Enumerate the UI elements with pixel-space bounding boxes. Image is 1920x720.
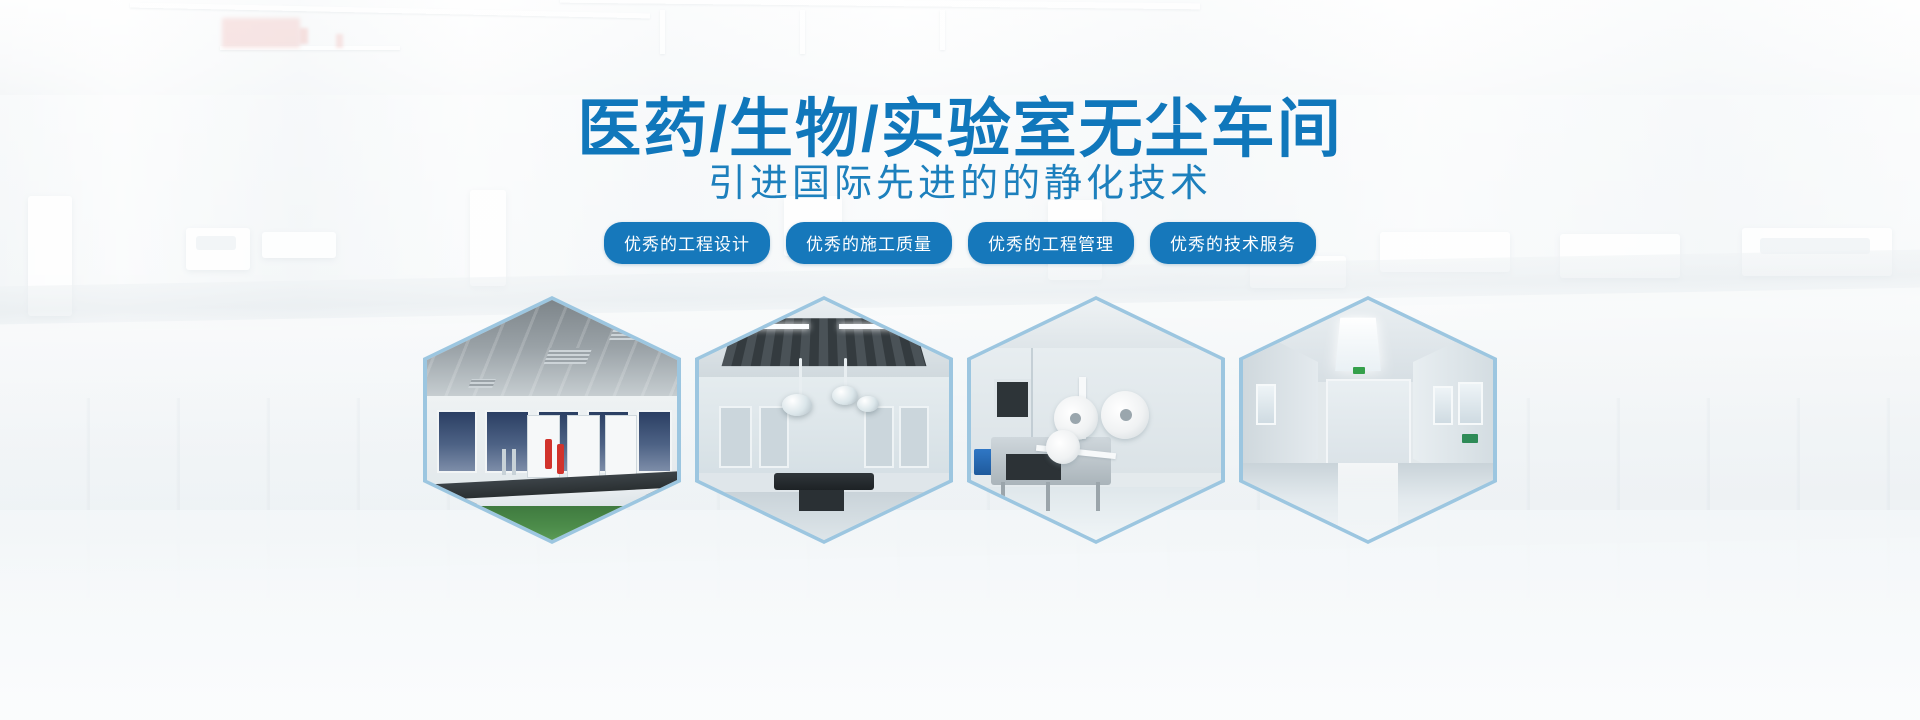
hero-banner: 医药/生物/实验室无尘车间 引进国际先进的的静化技术 优秀的工程设计 优秀的施工…	[0, 0, 1920, 720]
hexagon-item-corridor[interactable]	[1239, 296, 1497, 544]
feature-badge-design[interactable]: 优秀的工程设计	[604, 222, 770, 264]
hexagon-photo-production-line	[971, 300, 1221, 540]
hexagon-item-laboratory[interactable]	[423, 296, 681, 544]
hexagon-photo-operating-room	[699, 300, 949, 540]
hexagon-item-production-line[interactable]	[967, 296, 1225, 544]
hexagon-photo-laboratory	[427, 300, 677, 540]
feature-badge-management[interactable]: 优秀的工程管理	[968, 222, 1134, 264]
feature-badge-quality[interactable]: 优秀的施工质量	[786, 222, 952, 264]
feature-badge-service[interactable]: 优秀的技术服务	[1150, 222, 1316, 264]
hexagon-photo-corridor	[1243, 300, 1493, 540]
feature-badge-list: 优秀的工程设计 优秀的施工质量 优秀的工程管理 优秀的技术服务	[0, 222, 1920, 264]
page-subtitle: 引进国际先进的的静化技术	[0, 152, 1920, 207]
hexagon-gallery	[0, 296, 1920, 544]
hexagon-item-operating-room[interactable]	[695, 296, 953, 544]
